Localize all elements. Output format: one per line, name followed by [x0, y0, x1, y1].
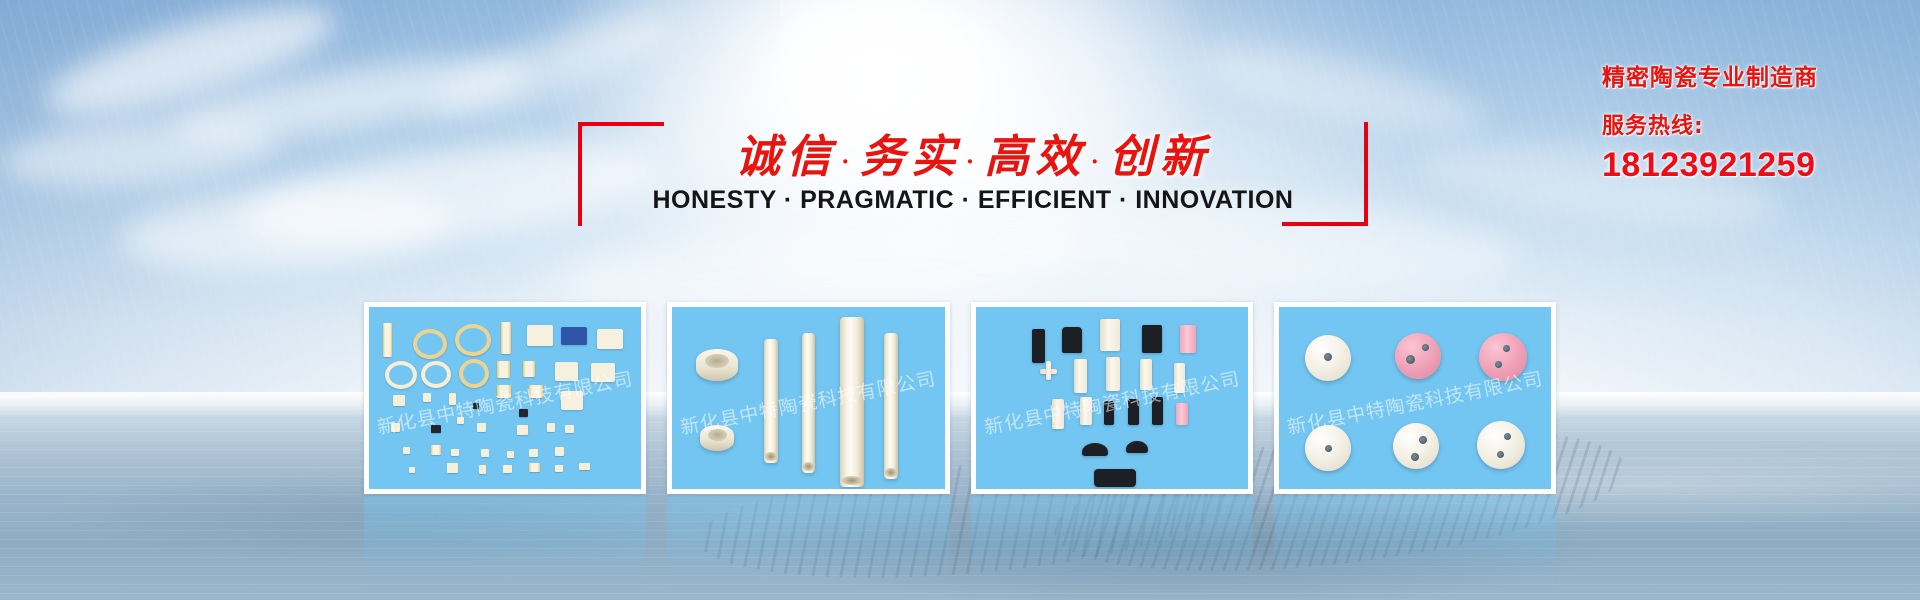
slogan-english: HONESTY · PRAGMATIC · EFFICIENT · INNOVA… — [578, 186, 1368, 215]
slogan-word-2: 务实 — [860, 132, 962, 182]
company-tagline: 精密陶瓷专业制造商 — [1602, 58, 1862, 92]
product-panel-smd-components[interactable]: 新化县中特陶瓷科技有限公司 — [364, 302, 646, 494]
product-panel-ceramic-tubes[interactable]: 新化县中特陶瓷科技有限公司 — [667, 302, 949, 494]
product-photo-1: 新化县中特陶瓷科技有限公司 — [369, 307, 641, 489]
slogan-separator: · — [837, 147, 860, 176]
product-photo-3: 新化县中特陶瓷科技有限公司 — [976, 307, 1248, 489]
hotline-phone-number[interactable]: 18123921259 — [1602, 146, 1862, 185]
slogan-word-1: 诚信 — [735, 132, 837, 182]
product-panel-ceramic-discs[interactable]: 新化县中特陶瓷科技有限公司 — [1274, 302, 1556, 494]
product-gallery: 新化县中特陶瓷科技有限公司 新化县中特陶瓷科技有限公司 — [364, 302, 1556, 494]
promo-banner: 诚信·务实·高效·创新 HONESTY · PRAGMATIC · EFFICI… — [0, 0, 1920, 600]
product-photo-4: 新化县中特陶瓷科技有限公司 — [1279, 307, 1551, 489]
slogan-separator: · — [962, 147, 985, 176]
slogan-word-3: 高效 — [984, 132, 1086, 182]
slogan-block: 诚信·务实·高效·创新 HONESTY · PRAGMATIC · EFFICI… — [578, 118, 1368, 226]
slogan-word-4: 创新 — [1109, 132, 1211, 182]
slogan-separator: · — [1086, 147, 1109, 176]
product-panel-ceramic-blocks[interactable]: 新化县中特陶瓷科技有限公司 — [971, 302, 1253, 494]
product-photo-2: 新化县中特陶瓷科技有限公司 — [672, 307, 944, 489]
contact-block: 精密陶瓷专业制造商 服务热线: 18123921259 — [1602, 58, 1862, 185]
slogan-chinese: 诚信·务实·高效·创新 — [578, 120, 1368, 185]
hotline-label: 服务热线: — [1602, 108, 1862, 140]
